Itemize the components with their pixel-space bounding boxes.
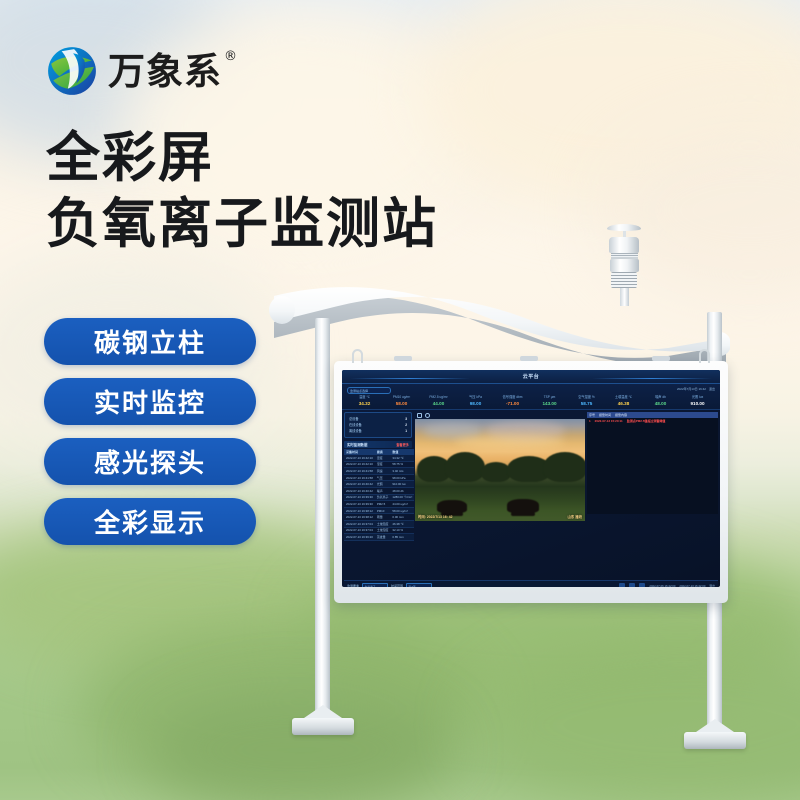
site-select-dropdown[interactable]: 监测站点选择: [347, 387, 391, 394]
metric-column: 信号强度 dbm-71.00: [494, 395, 531, 407]
feature-pill[interactable]: 感光探头: [44, 438, 256, 485]
table-cell: 土壤湿度: [375, 527, 391, 534]
table-header-bar: 实时监测数据 查看更多: [344, 441, 412, 448]
chart-toolbar: 监测要素 负氧离子 时间范围 近7天 2022-07-06 16:42:00 2…: [344, 581, 718, 587]
metric-column: 土壤温度 ℃46.38: [605, 395, 642, 407]
lcd-screen[interactable]: 云平台 监测站点选择 2022年7月13日 16:42 退出 温度 ℃34.32…: [342, 370, 720, 587]
brand-name: 万象系 ®: [108, 53, 222, 90]
metric-column: PM2.5 ug/m³44.00: [420, 395, 457, 407]
table-cell: 0.00 mm: [390, 514, 414, 521]
table-row[interactable]: 2022-07-13 16:37:04土壤温度46.38 ℃: [344, 520, 414, 527]
trend-chart-section: 监测要素 负氧离子 时间范围 近7天 2022-07-06 16:42:00 2…: [344, 580, 718, 587]
capture-icon[interactable]: [417, 413, 422, 418]
chart-filter-label-1: 监测要素: [347, 584, 359, 588]
table-cell: 气压: [375, 474, 391, 481]
feature-pill-label: 实时监控: [94, 383, 206, 420]
table-cell: 湿度: [375, 461, 391, 468]
metric-column: 气压 kPa98.00: [457, 395, 494, 407]
metric-value: 98.00: [457, 400, 494, 407]
chart-range-select[interactable]: 近7天: [406, 583, 432, 588]
sensor-body-lower: [610, 259, 639, 272]
date-start-field[interactable]: 2022-07-06 16:42:00: [649, 584, 675, 588]
header-datetime: 2022年7月13日 16:42: [677, 387, 706, 391]
table-cell: 3.40 m/s: [390, 468, 414, 475]
sensor-body-upper: [609, 237, 639, 253]
table-cell: 58.00 ug/m³: [390, 507, 414, 514]
hanger-hook-right: [699, 349, 710, 363]
video-cow: [507, 499, 539, 513]
export-button[interactable]: 导出: [709, 584, 715, 588]
base-plate-right: [684, 732, 746, 749]
alarm-panel: 序号报警时间报警内容 12022-07-13 15:20:11监测点PM2.5值…: [586, 410, 720, 580]
metric-value: 58.00: [383, 400, 420, 407]
headline-line-2: 负氧离子监测站: [46, 191, 438, 257]
table-row[interactable]: 2022-07-13 16:41:58风速3.40 m/s: [344, 468, 414, 475]
metric-column: 空气湿度 %58.75: [568, 395, 605, 407]
brand-logo: 万象系 ®: [46, 45, 222, 97]
video-location: 山东 潍坊: [567, 514, 582, 519]
metric-value: 34.32: [346, 400, 383, 407]
table-row[interactable]: 2022-07-13 16:39:30负氧离子1280.00 个/cm³: [344, 494, 414, 501]
alarm-row[interactable]: 12022-07-13 15:20:11监测点PM2.5值超过预警阈值: [587, 418, 718, 424]
table-row[interactable]: 2022-07-13 16:39:30PM2.544.00 ug/m³: [344, 501, 414, 508]
screen-body: 总设备3在线设备2离线设备1 实时监测数据 查看更多 采集时间要素数值 2022…: [342, 410, 720, 580]
screen-title: 云平台: [523, 373, 540, 380]
weather-sensor-head: [600, 224, 648, 306]
metric-column: 温度 ℃34.32: [346, 395, 383, 407]
metric-value: 48.00: [642, 400, 679, 407]
metric-strip: 监测站点选择 2022年7月13日 16:42 退出 温度 ℃34.32PM10…: [342, 384, 720, 410]
table-cell: 910.00 lux: [390, 481, 414, 488]
chart-view-line-icon[interactable]: [619, 583, 625, 588]
base-plate-left: [292, 718, 354, 735]
video-timestamp: 时间: 2022/7/13 16: 42: [418, 514, 453, 519]
record-icon[interactable]: [425, 413, 430, 418]
feature-pill[interactable]: 实时监控: [44, 378, 256, 425]
alarm-column-header: 报警内容: [615, 413, 716, 417]
metric-value: 910.00: [679, 400, 716, 407]
chart-element-select[interactable]: 负氧离子: [362, 583, 388, 588]
support-post-left: [315, 318, 330, 718]
metric-columns: 温度 ℃34.32PM10 ug/m³58.00PM2.5 ug/m³44.00…: [346, 395, 716, 407]
screen-header-info: 2022年7月13日 16:42 退出: [677, 387, 715, 391]
mount-bracket: [652, 356, 670, 361]
video-cow: [437, 500, 467, 513]
alarm-cell: 监测点PM2.5值超过预警阈值: [627, 419, 666, 423]
header-deco-line: [350, 378, 470, 379]
table-cell: 2022-07-13 16:37:04: [344, 527, 375, 534]
table-row[interactable]: 2022-07-13 16:41:58气压98.00 kPa: [344, 474, 414, 481]
calendar-icon[interactable]: [639, 583, 645, 588]
feature-pill-label: 感光探头: [94, 443, 206, 480]
headline-line-1: 全彩屏: [46, 125, 438, 191]
table-cell: 32.10 %: [390, 527, 414, 534]
feature-pill-label: 碳钢立柱: [94, 323, 206, 360]
table-cell: 44.00 ug/m³: [390, 501, 414, 508]
display-cabinet: 云平台 监测站点选择 2022年7月13日 16:42 退出 温度 ℃34.32…: [334, 361, 728, 603]
hanger-hook-left: [352, 349, 363, 363]
metric-value: 46.38: [605, 400, 642, 407]
mount-bracket: [520, 356, 538, 361]
chart-filter-label-2: 时间范围: [391, 584, 403, 588]
table-cell: 46.38 ℃: [390, 520, 414, 527]
table-cell: 2022-07-13 16:38:12: [344, 507, 375, 514]
status-row: 离线设备1: [349, 428, 407, 434]
date-end-field[interactable]: 2022-07-13 16:42:00: [679, 584, 705, 588]
table-row[interactable]: 2022-07-13 16:40:42噪声48.00 db: [344, 487, 414, 494]
status-value: 1: [405, 428, 407, 434]
brand-name-text: 万象系: [108, 50, 222, 93]
table-cell: 蒸发量: [375, 534, 391, 541]
live-camera-feed[interactable]: 时间: 2022/7/13 16: 42 山东 潍坊: [415, 419, 585, 521]
alarm-list[interactable]: 12022-07-13 15:20:11监测点PM2.5值超过预警阈值: [587, 418, 718, 514]
table-cell: 2022-07-13 16:40:42: [344, 487, 375, 494]
table-cell: 2022-07-13 16:40:42: [344, 481, 375, 488]
video-panel: 时间: 2022/7/13 16: 42 山东 潍坊: [414, 410, 586, 580]
metric-value: 44.00: [420, 400, 457, 407]
table-cell: 58.75 %: [390, 461, 414, 468]
metric-value: 143.00: [531, 400, 568, 407]
table-cell: 光照: [375, 481, 391, 488]
table-cell: 2022-07-13 16:38:12: [344, 514, 375, 521]
chart-view-bar-icon[interactable]: [629, 583, 635, 588]
mount-bracket: [394, 356, 412, 361]
left-panel: 总设备3在线设备2离线设备1 实时监测数据 查看更多 采集时间要素数值 2022…: [342, 410, 414, 580]
table-cell: 1280.00 个/cm³: [390, 494, 414, 501]
table-row[interactable]: 2022-07-13 16:38:12雨量0.00 mm: [344, 514, 414, 521]
table-row[interactable]: 2022-07-13 16:38:12PM1058.00 ug/m³: [344, 507, 414, 514]
alarm-column-header: 报警时间: [599, 413, 611, 417]
table-cell: 98.00 kPa: [390, 474, 414, 481]
metric-value: 58.75: [568, 400, 605, 407]
feature-pill[interactable]: 碳钢立柱: [44, 318, 256, 365]
metric-column: TSP μm143.00: [531, 395, 568, 407]
metric-column: PM10 ug/m³58.00: [383, 395, 420, 407]
headline-block: 全彩屏 负氧离子监测站: [46, 125, 438, 257]
sensor-stem: [620, 288, 629, 306]
table-cell: 48.00 db: [390, 487, 414, 494]
device-status-box: 总设备3在线设备2离线设备1: [344, 412, 412, 438]
table-cell: 2022-07-13 16:36:20: [344, 534, 375, 541]
table-cell: 2022-07-13 16:37:04: [344, 520, 375, 527]
video-cloud: [455, 435, 565, 449]
radiation-shield-fins: [611, 272, 637, 288]
sensor-cap: [607, 224, 641, 231]
trademark-symbol: ®: [224, 50, 238, 63]
realtime-data-table: 采集时间要素数值 2022-07-13 16:42:10温度34.32 ℃202…: [344, 449, 414, 541]
view-more-link[interactable]: 查看更多: [396, 442, 409, 447]
chart-toolbar-right: 2022-07-06 16:42:00 2022-07-13 16:42:00 …: [619, 583, 715, 588]
video-tree: [445, 452, 485, 482]
table-cell: 风速: [375, 468, 391, 475]
table-cell: 2022-07-13 16:39:30: [344, 494, 375, 501]
video-toolbar: [415, 412, 585, 419]
feature-pill-list: 碳钢立柱实时监控感光探头全彩显示: [44, 318, 256, 545]
table-row[interactable]: 2022-07-13 16:40:42光照910.00 lux: [344, 481, 414, 488]
metric-value: -71.00: [494, 400, 531, 407]
table-cell: 土壤温度: [375, 520, 391, 527]
video-tree: [543, 452, 585, 482]
table-cell: 噪声: [375, 487, 391, 494]
status-label: 离线设备: [349, 428, 362, 434]
globe-icon: [46, 45, 98, 97]
table-cell: 雨量: [375, 514, 391, 521]
table-cell: 0.85 mm: [390, 534, 414, 541]
table-title: 实时监测数据: [347, 442, 367, 447]
table-cell: 2022-07-13 16:39:30: [344, 501, 375, 508]
metric-column: 噪声 db48.00: [642, 395, 679, 407]
screen-header: 云平台: [342, 370, 720, 384]
table-cell: 2022-07-13 16:41:58: [344, 468, 375, 475]
logout-button[interactable]: 退出: [709, 387, 715, 391]
alarm-cell: 1: [589, 419, 591, 423]
table-row[interactable]: 2022-07-13 16:36:20蒸发量0.85 mm: [344, 534, 414, 541]
feature-pill[interactable]: 全彩显示: [44, 498, 256, 545]
alarm-column-header: 序号: [589, 413, 595, 417]
feature-pill-label: 全彩显示: [94, 503, 206, 540]
header-deco-line: [592, 378, 712, 379]
alarm-cell: 2022-07-13 15:20:11: [595, 419, 623, 423]
table-cell: 负氧离子: [375, 494, 391, 501]
table-cell: PM2.5: [375, 501, 391, 508]
table-row[interactable]: 2022-07-13 16:37:04土壤湿度32.10 %: [344, 527, 414, 534]
table-cell: 2022-07-13 16:42:10: [344, 461, 375, 468]
table-cell: PM10: [375, 507, 391, 514]
metric-column: 光照 lux910.00: [679, 395, 716, 407]
table-row[interactable]: 2022-07-13 16:42:10湿度58.75 %: [344, 461, 414, 468]
table-body: 2022-07-13 16:42:10温度34.32 ℃2022-07-13 1…: [344, 455, 414, 540]
table-cell: 2022-07-13 16:41:58: [344, 474, 375, 481]
